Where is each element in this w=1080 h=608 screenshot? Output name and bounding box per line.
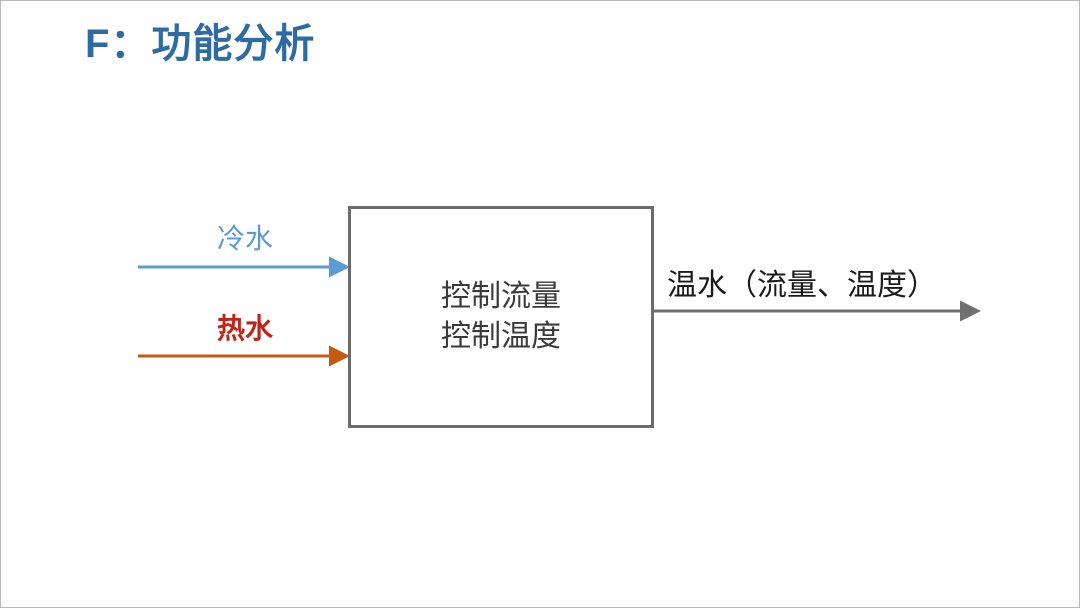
warm-water-output-label: 温水（流量、温度）: [667, 271, 937, 301]
process-box: 控制流量 控制温度: [348, 206, 654, 428]
process-box-line-2: 控制温度: [441, 317, 561, 357]
cold-water-label: 冷水: [217, 225, 273, 253]
process-box-text: 控制流量 控制温度: [351, 209, 651, 425]
hot-water-label: 热水: [217, 315, 273, 343]
page-title: F：功能分析: [85, 21, 315, 67]
slide-canvas: F：功能分析 冷水 热水 温水（流量、温度） 控制流量 控制温度: [0, 0, 1080, 608]
process-box-line-1: 控制流量: [441, 277, 561, 317]
